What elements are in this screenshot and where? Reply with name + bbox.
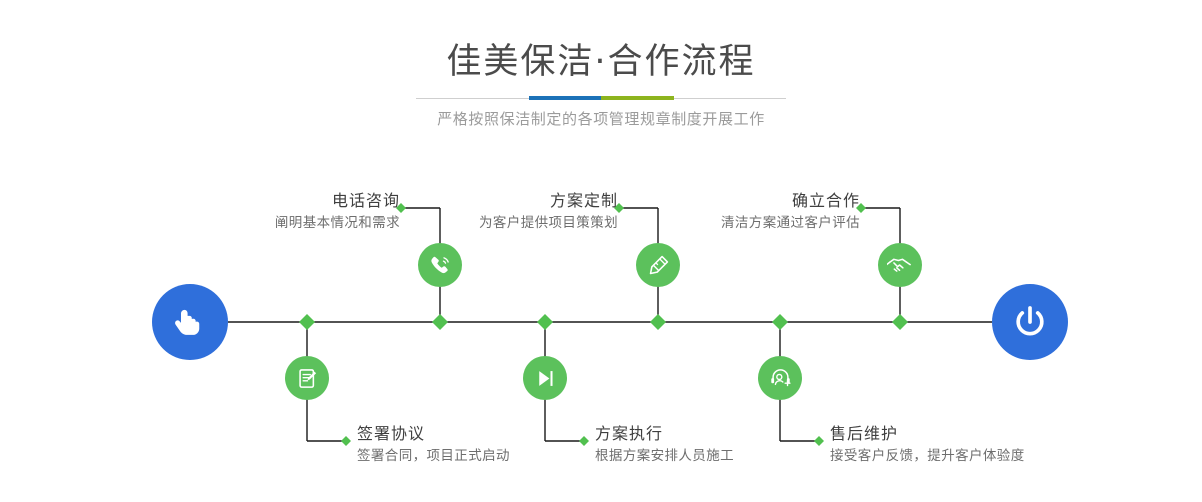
step-desc-6: 接受客户反馈，提升客户体验度 — [830, 445, 1025, 467]
step-title-1: 电话咨询 — [275, 190, 400, 212]
play-skip-icon — [533, 366, 558, 391]
step-desc-3: 为客户提供项目策策划 — [479, 212, 618, 234]
axis-diamond-2 — [432, 314, 448, 330]
step-node-2[interactable] — [285, 356, 329, 400]
axis-diamond-5 — [772, 314, 788, 330]
phone-call-icon — [428, 253, 453, 278]
flowchart-canvas: 佳美保洁·合作流程 严格按照保洁制定的各项管理规章制度开展工作 — [0, 0, 1202, 502]
step-title-4: 方案执行 — [595, 423, 734, 445]
step-node-1[interactable] — [418, 243, 462, 287]
step-desc-5: 清洁方案通过客户评估 — [721, 212, 860, 234]
pencil-ruler-icon — [646, 253, 671, 278]
label-diamond-down-1 — [341, 436, 351, 446]
step-title-5: 确立合作 — [721, 190, 860, 212]
step-label-6: 售后维护 接受客户反馈，提升客户体验度 — [830, 423, 1025, 467]
step-node-4[interactable] — [523, 356, 567, 400]
step-label-2: 签署协议 签署合同，项目正式启动 — [357, 423, 510, 467]
power-icon — [1009, 301, 1051, 343]
step-desc-2: 签署合同，项目正式启动 — [357, 445, 510, 467]
process-timeline: 电话咨询 阐明基本情况和需求 签署协议 签署合同，项目正式启动 — [0, 0, 1202, 502]
customer-service-add-icon — [768, 366, 793, 391]
axis-diamond-1 — [299, 314, 315, 330]
step-node-5[interactable] — [878, 243, 922, 287]
timeline-start-endpoint[interactable] — [152, 284, 228, 360]
step-label-5: 确立合作 清洁方案通过客户评估 — [721, 190, 860, 234]
step-label-4: 方案执行 根据方案安排人员施工 — [595, 423, 734, 467]
axis-diamond-4 — [650, 314, 666, 330]
label-diamond-down-3 — [814, 436, 824, 446]
pointing-hand-icon — [170, 302, 210, 342]
step-title-2: 签署协议 — [357, 423, 510, 445]
handshake-icon — [887, 252, 913, 278]
axis-diamond-3 — [537, 314, 553, 330]
timeline-end-endpoint[interactable] — [992, 284, 1068, 360]
step-title-6: 售后维护 — [830, 423, 1025, 445]
label-diamond-down-2 — [579, 436, 589, 446]
step-node-6[interactable] — [758, 356, 802, 400]
step-label-3: 方案定制 为客户提供项目策策划 — [479, 190, 618, 234]
document-edit-icon — [295, 366, 320, 391]
axis-diamond-6 — [892, 314, 908, 330]
step-desc-1: 阐明基本情况和需求 — [275, 212, 400, 234]
step-label-1: 电话咨询 阐明基本情况和需求 — [275, 190, 400, 234]
step-title-3: 方案定制 — [479, 190, 618, 212]
step-node-3[interactable] — [636, 243, 680, 287]
step-desc-4: 根据方案安排人员施工 — [595, 445, 734, 467]
